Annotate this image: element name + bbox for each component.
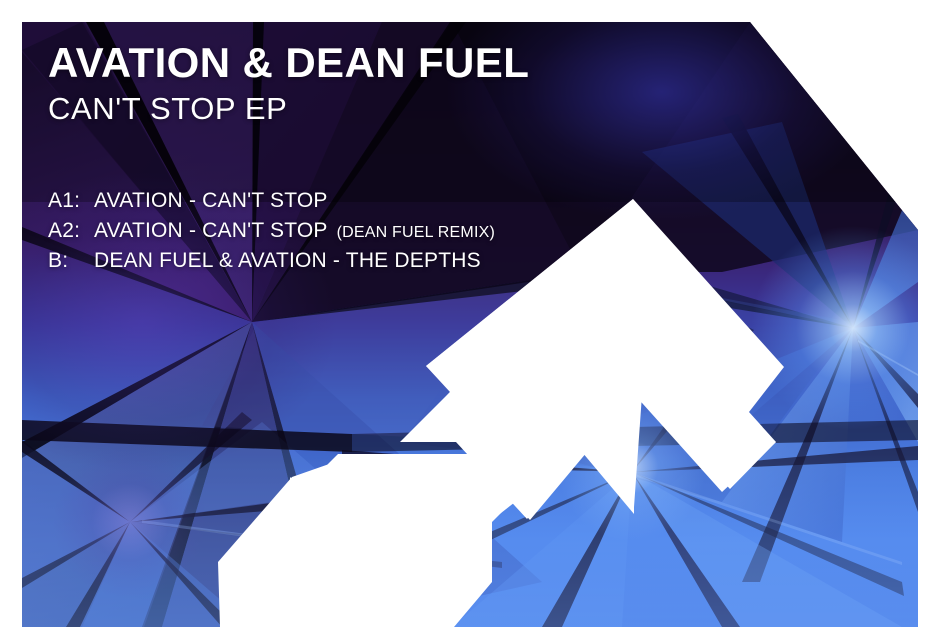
track-suffix: (DEAN FUEL REMIX) xyxy=(337,222,495,245)
title-block: AVATION & DEAN FUEL CAN'T STOP EP xyxy=(48,42,688,124)
release-title: CAN'T STOP EP xyxy=(48,93,688,124)
track-title: DEAN FUEL & AVATION - THE DEPTHS xyxy=(94,246,481,276)
track-title: AVATION - CAN'T STOP xyxy=(94,186,328,216)
track-position: B: xyxy=(48,246,94,276)
tracklist: A1: AVATION - CAN'T STOP A2: AVATION - C… xyxy=(48,186,668,275)
album-cover: AVATION & DEAN FUEL CAN'T STOP EP A1: AV… xyxy=(0,0,940,627)
track-row: B: DEAN FUEL & AVATION - THE DEPTHS xyxy=(48,246,668,276)
track-title: AVATION - CAN'T STOP xyxy=(94,216,328,246)
logo-block-main xyxy=(218,456,528,627)
artist-name: AVATION & DEAN FUEL xyxy=(48,42,688,84)
track-position: A2: xyxy=(48,216,94,246)
track-row: A1: AVATION - CAN'T STOP xyxy=(48,186,668,216)
track-row: A2: AVATION - CAN'T STOP (DEAN FUEL REMI… xyxy=(48,216,668,246)
track-position: A1: xyxy=(48,186,94,216)
